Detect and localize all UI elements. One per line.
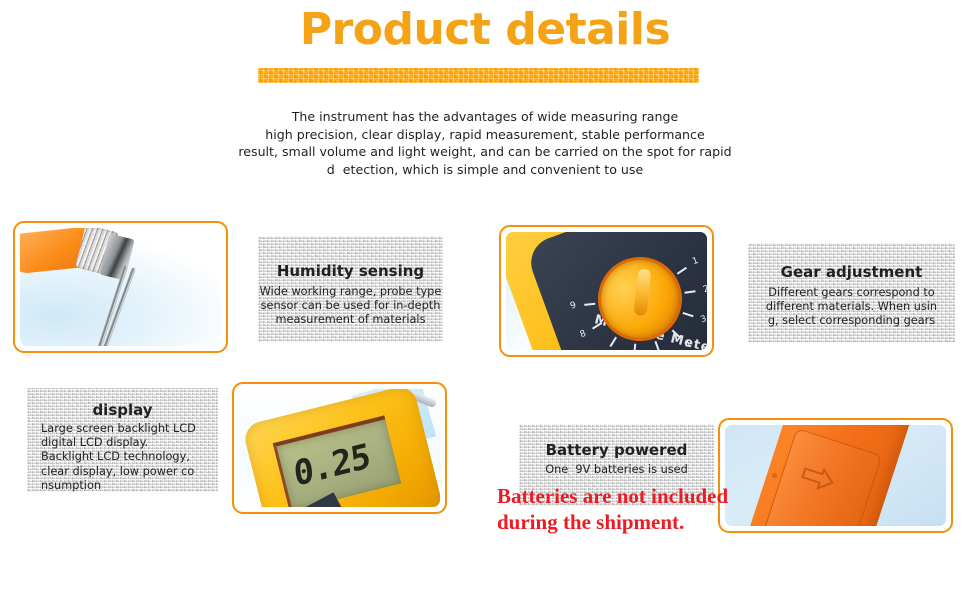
card-body-line: Different gears correspond to (748, 286, 955, 300)
intro-line: d etection, which is simple and convenie… (185, 161, 785, 179)
card-body-line: Large screen backlight LCD (41, 422, 218, 436)
photo-probe-inner (20, 228, 221, 346)
intro-line: The instrument has the advantages of wid… (185, 108, 785, 126)
card-body-line: g, select corresponding gears (748, 314, 955, 328)
dial-pointer-icon (634, 269, 652, 317)
intro-line: result, small volume and light weight, a… (185, 143, 785, 161)
card-body: Different gears correspond to different … (748, 286, 955, 329)
card-humidity-sensing: Humidity sensing Wide working range, pro… (258, 236, 443, 342)
lcd-screen: 0.25 (273, 415, 402, 507)
warning-line: Batteries are not included (497, 483, 787, 509)
card-title: Humidity sensing (258, 262, 443, 281)
intro-paragraph: The instrument has the advantages of wid… (185, 108, 785, 178)
card-display: display Large screen backlight LCD digit… (27, 388, 218, 492)
card-body: Wide working range, probe type sensor ca… (258, 285, 443, 328)
battery-screw-icon (772, 473, 777, 478)
photo-lcd-inner: 0.25 (239, 389, 440, 507)
card-body-line: Backlight LCD technology, (41, 450, 218, 464)
card-gear-adjustment: Gear adjustment Different gears correspo… (748, 243, 955, 343)
card-body: Large screen backlight LCD digital LCD d… (27, 422, 218, 493)
card-body-line: clear display, low power co (41, 465, 218, 479)
card-body-line: nsumption (41, 479, 218, 493)
lcd-reading: 0.25 (292, 436, 372, 495)
card-title: Gear adjustment (748, 263, 955, 282)
card-body-line: digital LCD display. (41, 436, 218, 450)
page-title: Product details (0, 2, 970, 58)
title-divider-bar (258, 68, 699, 83)
photo-probe-sensor (13, 221, 228, 353)
card-body-line: different materials. When usin (748, 300, 955, 314)
card-body-line: Wide working range, probe type (258, 285, 443, 299)
photo-lcd-display: 0.25 (232, 382, 447, 514)
card-body: One 9V batteries is used (519, 463, 714, 477)
intro-line: high precision, clear display, rapid mea… (185, 126, 785, 144)
card-title: Battery powered (519, 441, 714, 460)
card-body-line: One 9V batteries is used (519, 463, 714, 477)
card-title: display (27, 401, 218, 420)
photo-gear-dial: Moisture Meter 1 2 3 4 5 6 7 8 9 (499, 225, 714, 357)
card-body-line: sensor can be used for in-depth (258, 299, 443, 313)
warning-line: during the shipment. (497, 509, 787, 535)
photo-dial-inner: Moisture Meter 1 2 3 4 5 6 7 8 9 (506, 232, 707, 350)
battery-warning-text: Batteries are not included during the sh… (497, 483, 787, 535)
card-body-line: measurement of materials (258, 313, 443, 327)
product-details-infographic: Product details The instrument has the a… (0, 0, 970, 600)
